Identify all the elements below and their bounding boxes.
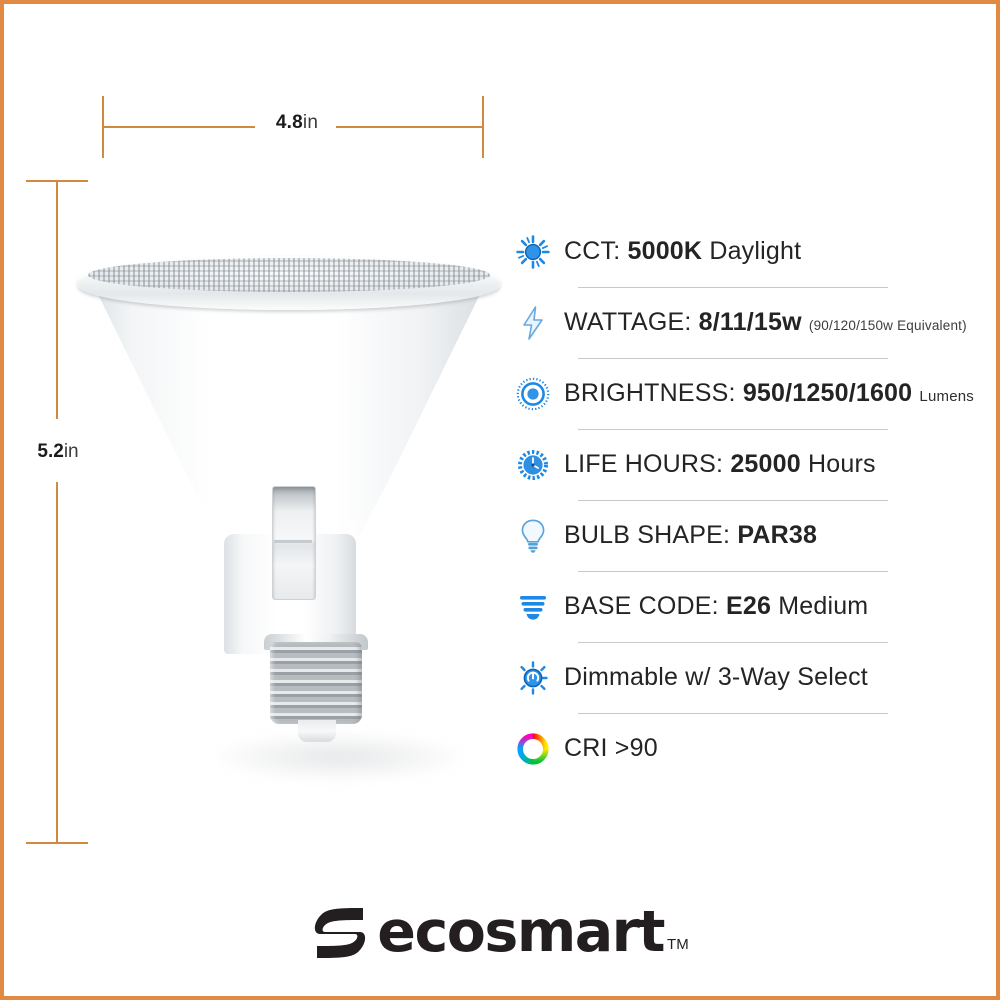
spec-note-brightness: Lumens bbox=[919, 388, 974, 405]
height-guide-line-top bbox=[56, 181, 58, 419]
spec-text-brightness: BRIGHTNESS: 950/1250/1600 Lumens bbox=[564, 379, 974, 408]
width-dimension-unit: in bbox=[303, 112, 318, 133]
width-dimension-label: 4.8in bbox=[254, 112, 340, 134]
spec-row-base-code: BASE CODE: E26 Medium bbox=[502, 571, 972, 642]
spec-label-cct: CCT: bbox=[564, 237, 628, 265]
spec-label-bulb-shape: BULB SHAPE: bbox=[564, 521, 737, 549]
spec-row-life-hours: LIFE HOURS: 25000 Hours bbox=[502, 429, 972, 500]
height-guide-line-bottom bbox=[56, 482, 58, 843]
spec-label-cri: CRI >90 bbox=[564, 734, 658, 762]
spec-label-dimmable: Dimmable w/ 3-Way Select bbox=[564, 663, 868, 691]
spec-value-base-code: E26 bbox=[726, 592, 771, 620]
spec-row-dimmable: Dimmable w/ 3-Way Select bbox=[502, 642, 972, 713]
product-image-bulb bbox=[64, 234, 514, 794]
spec-row-bulb-shape: BULB SHAPE: PAR38 bbox=[502, 500, 972, 571]
spec-row-brightness: BRIGHTNESS: 950/1250/1600 Lumens bbox=[502, 358, 972, 429]
specification-list: CCT: 5000K Daylight WATTAGE: 8/11/15w (9… bbox=[502, 216, 972, 784]
brightness-icon bbox=[502, 372, 564, 416]
spec-text-base-code: BASE CODE: E26 Medium bbox=[564, 592, 868, 621]
spec-text-cri: CRI >90 bbox=[564, 734, 658, 763]
spec-suffix-cct: Daylight bbox=[702, 237, 801, 265]
brand-name: ecosmart bbox=[377, 904, 664, 961]
bulb-base-tip bbox=[298, 720, 336, 742]
cri-color-wheel-icon bbox=[502, 727, 564, 771]
width-guide-line-left bbox=[103, 126, 255, 128]
width-dimension-value: 4.8 bbox=[276, 112, 303, 133]
spec-label-life-hours: LIFE HOURS: bbox=[564, 450, 730, 478]
width-guide-line-right bbox=[336, 126, 483, 128]
spec-row-cri: CRI >90 bbox=[502, 713, 972, 784]
brand-logo: ecosmart TM bbox=[4, 904, 996, 961]
spec-value-wattage: 8/11/15w bbox=[699, 308, 802, 336]
trademark-symbol: TM bbox=[667, 936, 689, 953]
spec-text-life-hours: LIFE HOURS: 25000 Hours bbox=[564, 450, 876, 479]
three-way-selector-switch bbox=[272, 486, 316, 600]
product-spec-sheet: 4.8in 5.2in bbox=[0, 0, 1000, 1000]
bulb-shape-icon bbox=[502, 514, 564, 558]
spec-text-bulb-shape: BULB SHAPE: PAR38 bbox=[564, 521, 817, 550]
three-way-selector-switch-divider bbox=[274, 540, 312, 543]
spec-text-wattage: WATTAGE: 8/11/15w (90/120/150w Equivalen… bbox=[564, 308, 967, 337]
spec-suffix-life-hours: Hours bbox=[801, 450, 876, 478]
base-code-icon bbox=[502, 585, 564, 629]
height-dimension-value: 5.2 bbox=[37, 441, 63, 462]
bulb-lens-texture bbox=[88, 258, 490, 292]
spec-value-brightness: 950/1250/1600 bbox=[743, 379, 912, 407]
spec-label-wattage: WATTAGE: bbox=[564, 308, 699, 336]
spec-note-wattage: (90/120/150w Equivalent) bbox=[809, 318, 967, 333]
dimmable-icon bbox=[502, 656, 564, 700]
spec-value-life-hours: 25000 bbox=[730, 450, 801, 478]
spec-value-cct: 5000K bbox=[628, 237, 703, 265]
spec-value-bulb-shape: PAR38 bbox=[737, 521, 817, 549]
life-hours-gear-icon bbox=[502, 443, 564, 487]
spec-row-wattage: WATTAGE: 8/11/15w (90/120/150w Equivalen… bbox=[502, 287, 972, 358]
spec-text-cct: CCT: 5000K Daylight bbox=[564, 237, 801, 266]
bulb-drop-shadow bbox=[214, 734, 464, 780]
spec-suffix-base-code: Medium bbox=[771, 592, 868, 620]
lightning-bolt-icon bbox=[502, 301, 564, 345]
ecosmart-e-mark-icon bbox=[311, 906, 369, 960]
spec-label-brightness: BRIGHTNESS: bbox=[564, 379, 743, 407]
spec-label-base-code: BASE CODE: bbox=[564, 592, 726, 620]
spec-text-dimmable: Dimmable w/ 3-Way Select bbox=[564, 663, 868, 692]
sun-icon bbox=[502, 230, 564, 274]
e26-screw-base bbox=[270, 642, 362, 724]
spec-row-cct: CCT: 5000K Daylight bbox=[502, 216, 972, 287]
